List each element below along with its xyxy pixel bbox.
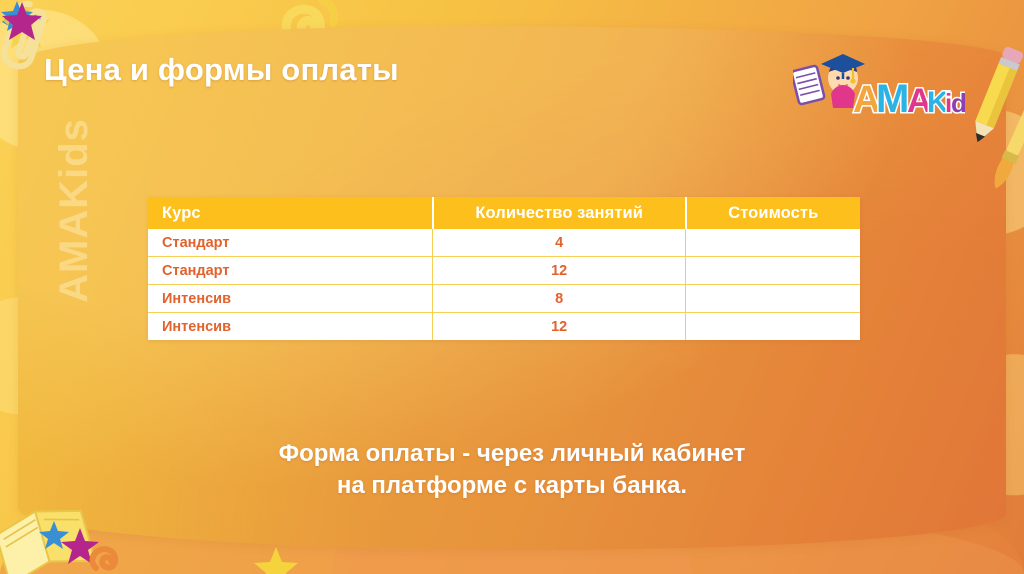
cell-course: Стандарт <box>148 229 433 257</box>
table-row: Интенсив 12 <box>148 313 860 341</box>
svg-text:M: M <box>876 77 909 121</box>
logo-wordmark-kids: K i d <box>927 86 965 119</box>
cell-price <box>686 285 860 313</box>
price-table-body: Стандарт 4 Стандарт 12 Интенсив 8 Интенс… <box>148 229 860 340</box>
table-row: Стандарт 4 <box>148 229 860 257</box>
cell-lessons: 4 <box>433 229 686 257</box>
cell-lessons: 8 <box>433 285 686 313</box>
table-row: Интенсив 8 <box>148 285 860 313</box>
price-table-head: Курс Количество занятий Стоимость <box>148 197 860 229</box>
watermark-text: AMAKids <box>52 118 97 303</box>
cell-course: Интенсив <box>148 285 433 313</box>
cell-price <box>686 313 860 341</box>
column-header-lessons: Количество занятий <box>433 197 686 229</box>
cell-lessons: 12 <box>433 257 686 285</box>
cell-course: Стандарт <box>148 257 433 285</box>
payment-note-line-1: Форма оплаты - через личный кабинет <box>0 438 1024 470</box>
cell-lessons: 12 <box>433 313 686 341</box>
cell-price <box>686 229 860 257</box>
payment-note: Форма оплаты - через личный кабинет на п… <box>0 438 1024 502</box>
svg-text:d: d <box>951 88 965 118</box>
logo-wordmark-ama: A M A <box>853 77 932 121</box>
price-table-container: Курс Количество занятий Стоимость Станда… <box>148 197 860 340</box>
cell-course: Интенсив <box>148 313 433 341</box>
table-row: Стандарт 12 <box>148 257 860 285</box>
column-header-course: Курс <box>148 197 433 229</box>
price-table: Курс Количество занятий Стоимость Станда… <box>148 197 860 340</box>
cell-price <box>686 257 860 285</box>
payment-note-line-2: на платформе с карты банка. <box>0 470 1024 502</box>
page-title: Цена и формы оплаты <box>44 52 399 88</box>
column-header-price: Стоимость <box>686 197 860 229</box>
amakids-logo: A M A K i d <box>793 38 965 122</box>
abacus-icon <box>793 65 825 104</box>
slide: AMAKids Цена и формы оплаты <box>0 0 1024 574</box>
table-header-row: Курс Количество занятий Стоимость <box>148 197 860 229</box>
